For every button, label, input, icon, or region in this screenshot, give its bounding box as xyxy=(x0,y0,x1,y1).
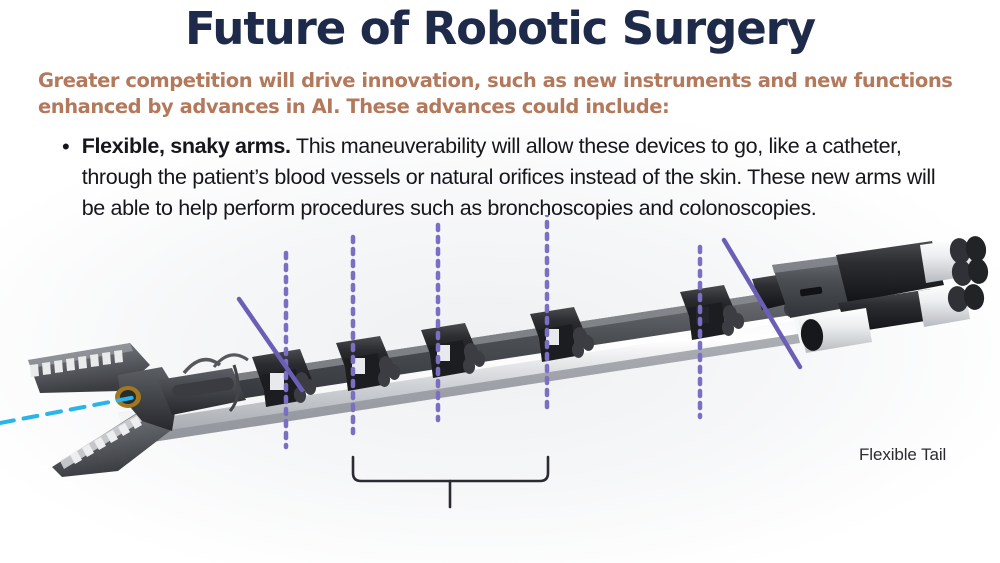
robotic-arm-illustration: Flexible Tail Up/Down Shoulder Left/Righ… xyxy=(0,215,1000,563)
flexible-tail-assembly xyxy=(772,234,990,353)
bullet-text-block: Flexible, snaky arms. This maneuverabili… xyxy=(82,131,962,224)
wrist-housing xyxy=(158,355,248,415)
tail-cable-bundle xyxy=(946,234,990,313)
gripper-assembly xyxy=(28,343,178,477)
page-title: Future of Robotic Surgery xyxy=(0,4,1000,54)
slide-canvas: Future of Robotic Surgery Greater compet… xyxy=(0,0,1000,563)
elbow-bracket xyxy=(353,457,548,507)
bullet-lead-text: Flexible, snaky arms. xyxy=(82,134,291,158)
slide-subtitle: Greater competition will drive innovatio… xyxy=(38,68,968,120)
bullet-list-item: • Flexible, snaky arms. This maneuverabi… xyxy=(62,131,962,224)
label-flexible-tail: Flexible Tail xyxy=(859,444,946,467)
robotic-arm-svg xyxy=(0,215,1000,563)
axis-rolling-dashed xyxy=(0,397,136,423)
bullet-marker-icon: • xyxy=(62,131,70,162)
